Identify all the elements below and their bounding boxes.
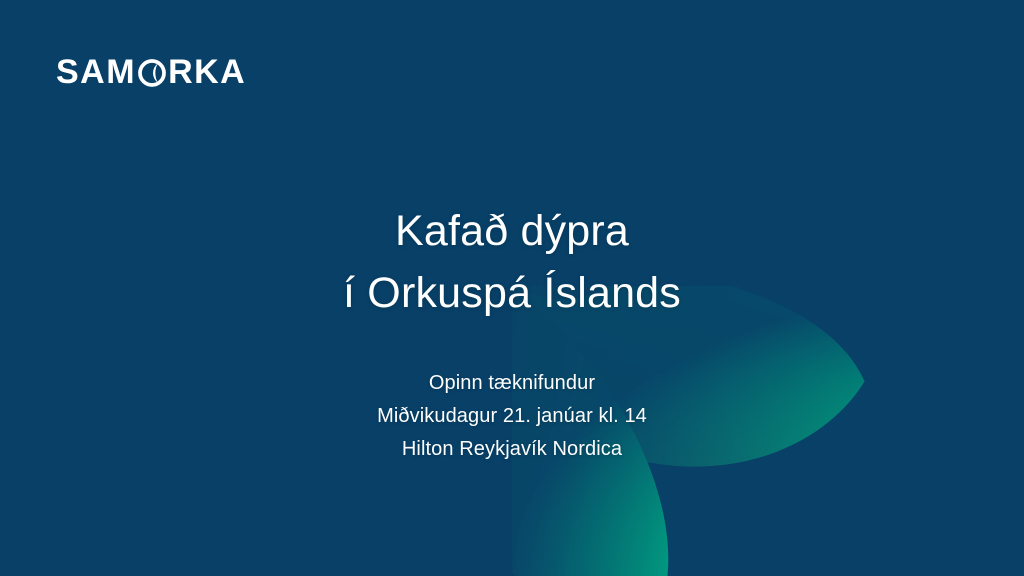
presentation-slide: SAM RKA Kafað dýpra í Orkuspá Íslands Op… <box>0 0 1024 576</box>
logo-text-before: SAM <box>56 55 136 89</box>
subtitle-line-1: Opinn tæknifundur <box>0 367 1024 400</box>
subtitle-line-2: Miðvikudagur 21. janúar kl. 14 <box>0 400 1024 433</box>
logo-wordmark: SAM RKA <box>56 55 246 89</box>
slide-title: Kafað dýpra í Orkuspá Íslands <box>0 200 1024 325</box>
subtitle-line-3: Hilton Reykjavík Nordica <box>0 433 1024 466</box>
logo-text-after: RKA <box>168 55 246 89</box>
samorka-logo[interactable]: SAM RKA <box>56 52 246 92</box>
title-line-1: Kafað dýpra <box>0 200 1024 262</box>
title-line-2: í Orkuspá Íslands <box>0 262 1024 324</box>
swirl-ring-icon <box>137 58 167 88</box>
slide-subtitle: Opinn tæknifundur Miðvikudagur 21. janúa… <box>0 367 1024 466</box>
